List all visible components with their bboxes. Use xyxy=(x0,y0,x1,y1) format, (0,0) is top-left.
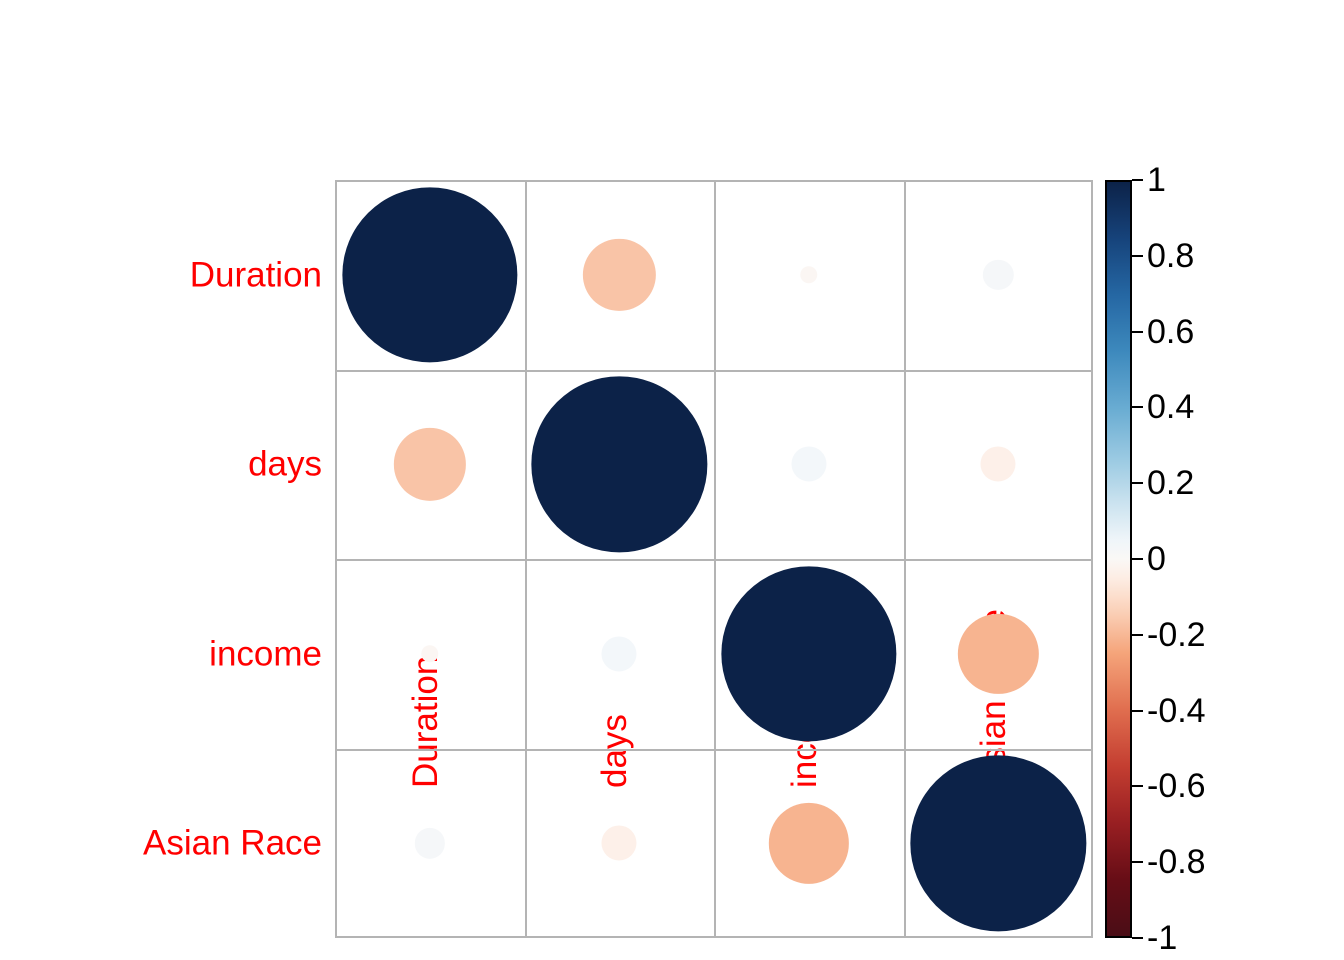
correlation-bubble xyxy=(583,239,655,311)
row-label-days: days xyxy=(248,447,322,482)
colorbar-tick-mark xyxy=(1132,331,1143,333)
correlation-bubble xyxy=(958,614,1038,694)
colorbar-tick-mark xyxy=(1132,710,1143,712)
colorbar-tick-label: 0.4 xyxy=(1147,390,1194,424)
colorbar-tick-mark xyxy=(1132,937,1143,939)
colorbar-tick-mark xyxy=(1132,558,1143,560)
correlation-bubble xyxy=(983,260,1013,290)
colorbar-tick-mark xyxy=(1132,406,1143,408)
colorbar-tick-mark xyxy=(1132,179,1143,181)
colorbar-tick-mark xyxy=(1132,255,1143,257)
colorbar-tick-label: -0.4 xyxy=(1147,694,1206,728)
correlation-bubble xyxy=(415,828,445,858)
color-scale-legend: 10.80.60.40.20-0.2-0.4-0.6-0.8-1 xyxy=(1105,180,1132,938)
correlation-bubble xyxy=(342,187,517,362)
correlation-bubble xyxy=(981,447,1016,482)
matrix-cell xyxy=(904,559,1094,749)
matrix-cell xyxy=(714,559,904,749)
colorbar-tick-label: 1 xyxy=(1147,163,1166,197)
correlation-bubble xyxy=(721,566,896,741)
matrix-cell xyxy=(714,370,904,560)
matrix-cell xyxy=(525,180,715,370)
color-gradient-bar xyxy=(1105,180,1132,938)
matrix-cell xyxy=(525,370,715,560)
matrix-cell xyxy=(714,180,904,370)
matrix-cell xyxy=(335,180,525,370)
matrix-cell xyxy=(525,749,715,939)
colorbar-tick-mark xyxy=(1132,634,1143,636)
colorbar-tick-label: -0.8 xyxy=(1147,845,1206,879)
matrix-cell xyxy=(904,749,1094,939)
row-label-duration: Duration xyxy=(190,257,322,292)
correlation-bubble xyxy=(800,266,818,284)
colorbar-tick-mark xyxy=(1132,482,1143,484)
colorbar-tick-label: 0 xyxy=(1147,542,1166,576)
matrix-cell xyxy=(335,559,525,749)
colorbar-tick-mark xyxy=(1132,861,1143,863)
corrplot-figure: DurationdaysincomeAsian Race Durationday… xyxy=(0,0,1344,960)
matrix-cell xyxy=(335,749,525,939)
matrix-cell xyxy=(335,370,525,560)
colorbar-tick-label: -1 xyxy=(1147,921,1177,955)
correlation-bubble xyxy=(532,377,707,552)
colorbar-tick-mark xyxy=(1132,785,1143,787)
correlation-bubble xyxy=(602,826,637,861)
matrix-cell xyxy=(904,180,1094,370)
colorbar-tick-label: -0.6 xyxy=(1147,769,1206,803)
correlation-bubble xyxy=(791,447,826,482)
correlation-matrix xyxy=(335,180,1093,938)
correlation-bubble xyxy=(769,803,849,883)
row-axis-labels: DurationdaysincomeAsian Race xyxy=(0,0,322,960)
colorbar-tick-label: 0.2 xyxy=(1147,466,1194,500)
correlation-bubble xyxy=(421,645,439,663)
row-label-asian-race: Asian Race xyxy=(143,826,322,861)
matrix-cell xyxy=(525,559,715,749)
correlation-bubble xyxy=(911,756,1086,931)
matrix-cell xyxy=(714,749,904,939)
correlation-bubble xyxy=(602,636,637,671)
colorbar-tick-label: 0.6 xyxy=(1147,315,1194,349)
colorbar-tick-label: 0.8 xyxy=(1147,239,1194,273)
colorbar-tick-label: -0.2 xyxy=(1147,618,1206,652)
correlation-bubble xyxy=(394,428,466,500)
matrix-cell xyxy=(904,370,1094,560)
row-label-income: income xyxy=(209,636,322,671)
